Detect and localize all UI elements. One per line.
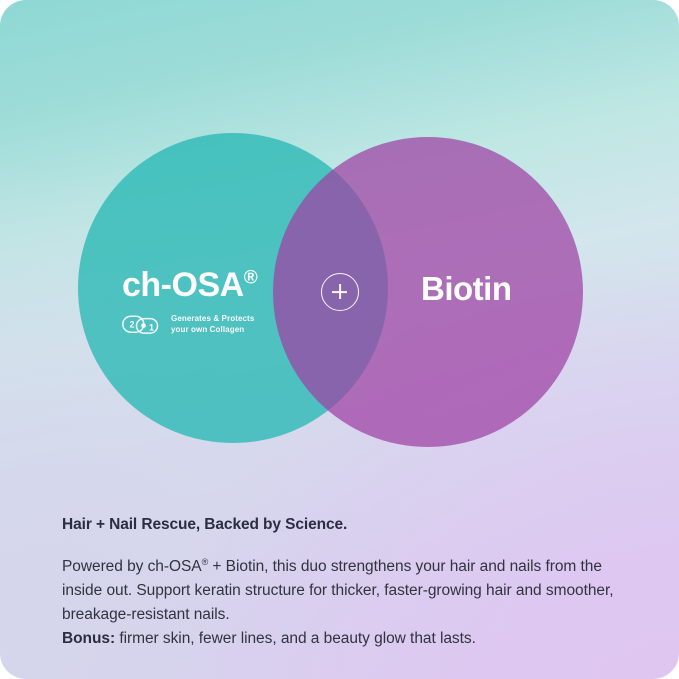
chosa-name: ch-OSA bbox=[122, 266, 244, 304]
copy-body-prefix: Powered by ch-OSA bbox=[62, 558, 202, 575]
plus-icon bbox=[321, 273, 359, 311]
ratio-2-to-1-badge-icon: 2 1 bbox=[122, 315, 164, 334]
copy-body: Powered by ch-OSA® + Biotin, this duo st… bbox=[62, 555, 618, 652]
chosa-tagline-line-1: Generates & Protects bbox=[171, 314, 254, 325]
chosa-tagline-line-2: your own Collagen bbox=[171, 325, 254, 336]
svg-text:1: 1 bbox=[149, 322, 154, 332]
svg-text:2: 2 bbox=[130, 320, 135, 330]
product-benefit-card: ch-OSA® 2 1 Generates & Protects your ow… bbox=[0, 0, 679, 679]
copy-block: Hair + Nail Rescue, Backed by Science. P… bbox=[62, 516, 618, 651]
registered-trademark-icon: ® bbox=[244, 268, 258, 289]
chosa-tagline-row: 2 1 Generates & Protects your own Collag… bbox=[122, 314, 254, 335]
bonus-label: Bonus: bbox=[62, 630, 115, 647]
venn-label-chosa: ch-OSA® bbox=[122, 268, 257, 302]
copy-heading: Hair + Nail Rescue, Backed by Science. bbox=[62, 516, 618, 535]
bonus-text: firmer skin, fewer lines, and a beauty g… bbox=[115, 630, 476, 647]
venn-diagram: ch-OSA® 2 1 Generates & Protects your ow… bbox=[0, 0, 679, 500]
venn-label-biotin: Biotin bbox=[421, 272, 511, 305]
chosa-tagline: Generates & Protects your own Collagen bbox=[171, 314, 254, 335]
